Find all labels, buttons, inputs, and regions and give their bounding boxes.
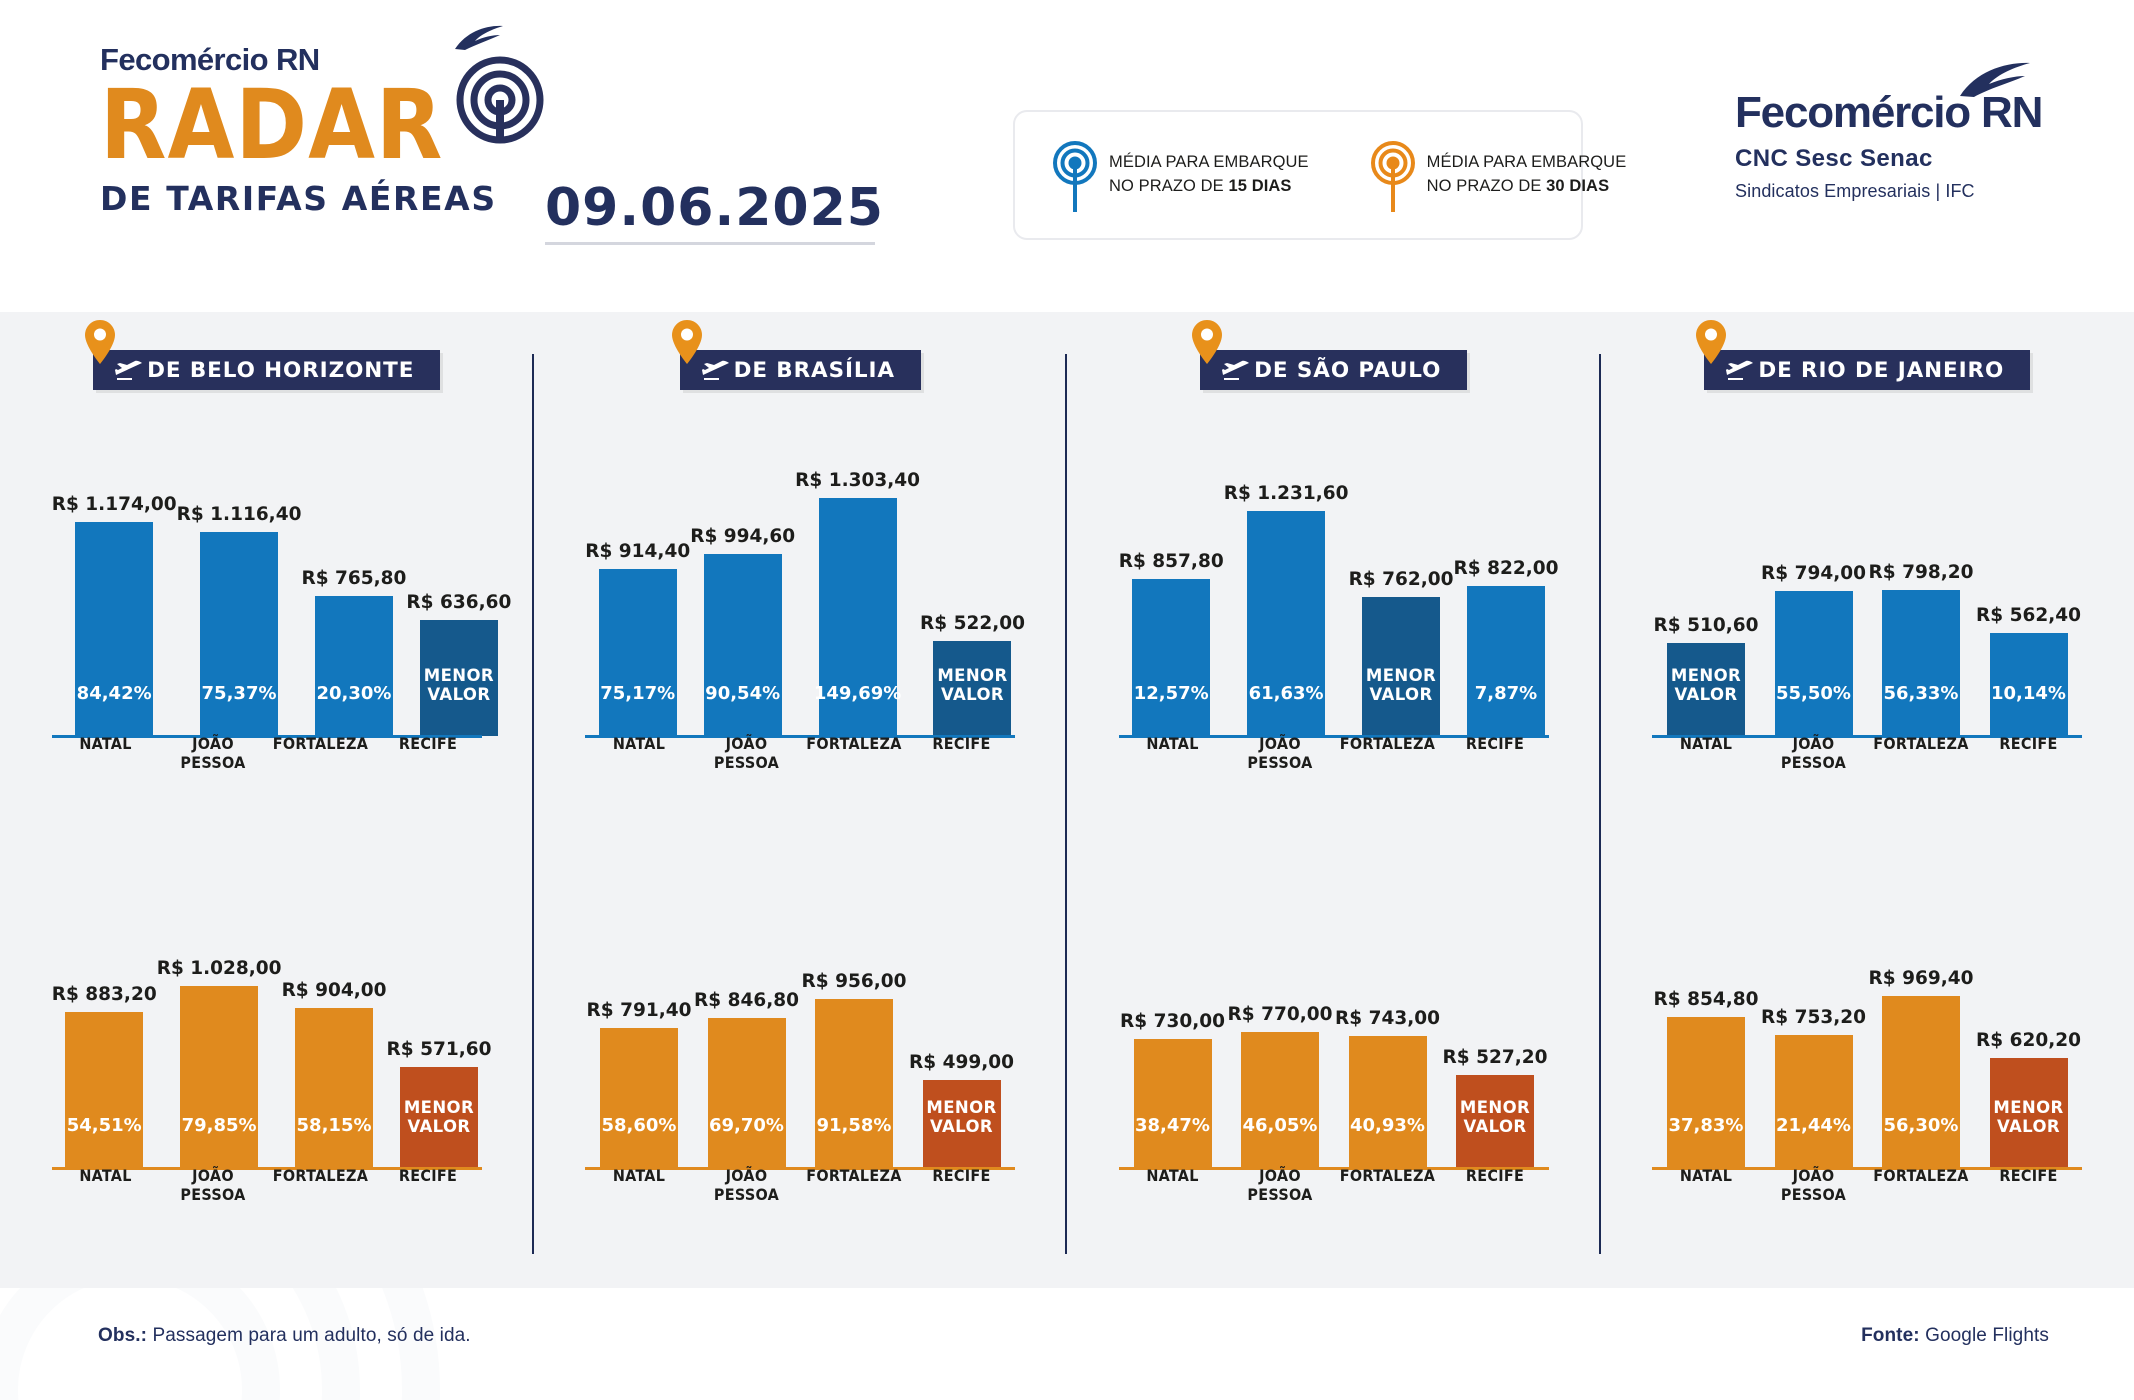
bar-percent-label: 7,87% [1475,684,1537,736]
footer-note: Obs.: Passagem para um adulto, só de ida… [98,1325,471,1347]
bar-value-label: R$ 822,00 [1454,558,1559,579]
bar-chart: R$ 510,60MENOR VALORR$ 794,0055,50%R$ 79… [1652,408,2082,776]
bar-value-label: R$ 791,40 [587,1000,692,1021]
origin-panel: DE BRASÍLIAR$ 914,4075,17%R$ 994,6090,54… [534,312,1068,1288]
legend-item-15-dias: MÉDIA PARA EMBARQUE NO PRAZO DE 15 DIAS [1053,137,1309,213]
x-axis-labels: NATALJOÃO PESSOAFORTALEZARECIFE [1652,734,2082,772]
chart-plot-area: R$ 854,8037,83%R$ 753,2021,44%R$ 969,405… [1652,898,2082,1168]
bar[interactable]: 55,50% [1775,591,1853,736]
page-header: Fecomércio RN RADAR DE TARIFAS AÉREAS 09… [0,0,2134,312]
bar-group: R$ 770,0046,05% [1226,898,1334,1168]
airplane-icon [115,359,143,381]
bar[interactable]: 54,51% [65,1012,143,1168]
radar-title: RADAR [100,80,497,171]
origin-title-bar[interactable]: DE BRASÍLIA [680,350,921,390]
bar[interactable]: MENOR VALOR [1667,643,1745,736]
row-spacer [1601,776,2134,898]
bar[interactable]: 46,05% [1241,1032,1319,1168]
bar-percent-label: 20,30% [316,684,391,736]
bar-value-label: R$ 762,00 [1349,569,1454,590]
bar[interactable]: MENOR VALOR [923,1080,1001,1168]
bar-group: R$ 743,0040,93% [1334,898,1442,1168]
bar[interactable]: 75,37% [200,532,278,736]
bar[interactable]: MENOR VALOR [1456,1075,1534,1168]
panel-header: DE BRASÍLIA [534,312,1068,408]
x-axis-tick-label: FORTALEZA [1867,1166,1975,1204]
x-axis-tick-label: RECIFE [374,734,482,772]
x-axis-tick-label: RECIFE [374,1166,482,1204]
x-axis-tick-label: RECIFE [908,734,1016,772]
origin-panel: DE BELO HORIZONTER$ 1.174,0084,42%R$ 1.1… [0,312,534,1288]
lowest-value-badge: MENOR VALOR [937,667,1007,736]
chart-plot-area: R$ 914,4075,17%R$ 994,6090,54%R$ 1.303,4… [585,408,1015,736]
bar[interactable]: 84,42% [75,522,153,736]
bar-group: R$ 914,4075,17% [585,408,690,736]
bar-group: R$ 794,0055,50% [1760,408,1868,736]
bar-percent-label: 55,50% [1776,684,1851,736]
map-pin-icon [85,320,115,364]
bar-value-label: R$ 994,60 [690,526,795,547]
bar-percent-label: 79,85% [182,1116,257,1168]
bar[interactable]: 12,57% [1132,579,1210,736]
bar-percent-label: 84,42% [77,684,152,736]
bar[interactable]: 38,47% [1134,1039,1212,1168]
map-pin-icon [672,320,702,364]
bar[interactable]: 58,15% [295,1008,373,1168]
x-axis-tick-label: JOÃO PESSOA [693,1166,801,1204]
row-spacer [1067,776,1601,898]
report-date-value: 09.06.2025 [545,178,875,238]
bar[interactable]: MENOR VALOR [1362,597,1440,736]
origin-panel: DE SÃO PAULOR$ 857,8012,57%R$ 1.231,6061… [1067,312,1601,1288]
origin-title-label: DE BELO HORIZONTE [147,358,414,383]
x-axis-tick-label: RECIFE [1975,1166,2083,1204]
fecomercio-rn-text: Fecomércio RN [100,42,320,77]
lowest-value-badge: MENOR VALOR [1366,667,1436,736]
origin-title-label: DE SÃO PAULO [1254,358,1441,383]
sindicatos-text: Sindicatos Empresariais | IFC [1735,181,2042,202]
chart-plot-area: R$ 791,4058,60%R$ 846,8069,70%R$ 956,009… [585,898,1015,1168]
bar-value-label: R$ 846,80 [694,990,799,1011]
x-axis-tick-label: NATAL [1652,1166,1760,1204]
bar-value-label: R$ 510,60 [1654,615,1759,636]
legend-line2: NO PRAZO DE 30 DIAS [1427,175,1627,199]
bar-value-label: R$ 527,20 [1443,1047,1548,1068]
bar[interactable]: 21,44% [1775,1035,1853,1168]
bar-group: R$ 956,0091,58% [800,898,908,1168]
bar[interactable]: 75,17% [599,569,677,736]
bar-value-label: R$ 969,40 [1869,968,1974,989]
bar-percent-label: 37,83% [1669,1116,1744,1168]
bar-percent-label: 21,44% [1776,1116,1851,1168]
x-axis-tick-label: NATAL [585,1166,693,1204]
bar[interactable]: 56,30% [1882,996,1960,1168]
bar-percent-label: 69,70% [709,1116,784,1168]
bar-group: R$ 1.116,4075,37% [177,408,302,736]
fecomercio-rn-name: Fecomércio RN [1735,88,2042,138]
fecomercio-logo-right: Fecomércio RN CNC Sesc Senac Sindicatos … [1735,88,2042,202]
chart-plot-area: R$ 730,0038,47%R$ 770,0046,05%R$ 743,004… [1119,898,1549,1168]
bar-value-label: R$ 904,00 [282,980,387,1001]
x-axis-tick-label: JOÃO PESSOA [1760,734,1868,772]
x-axis-tick-label: NATAL [52,1166,160,1204]
bar[interactable]: MENOR VALOR [1990,1058,2068,1168]
bar-group: R$ 522,00MENOR VALOR [920,408,1025,736]
bar-chart: R$ 857,8012,57%R$ 1.231,6061,63%R$ 762,0… [1119,408,1549,776]
bar-value-label: R$ 562,40 [1976,605,2081,626]
row-spacer [0,776,534,898]
bar-value-label: R$ 1.174,00 [52,494,177,515]
chart-plot-area: R$ 1.174,0084,42%R$ 1.116,4075,37%R$ 765… [52,408,482,736]
date-underline [545,242,875,245]
radar-logo: Fecomércio RN RADAR DE TARIFAS AÉREAS [100,42,497,218]
bar-group: R$ 1.174,0084,42% [52,408,177,736]
map-pin-icon [1696,320,1726,364]
x-axis-tick-label: RECIFE [1441,1166,1549,1204]
x-axis-tick-label: FORTALEZA [800,734,908,772]
bar-value-label: R$ 1.303,40 [795,470,920,491]
origin-title-bar[interactable]: DE BELO HORIZONTE [93,350,440,390]
bar-value-label: R$ 730,00 [1120,1011,1225,1032]
bar[interactable]: 10,14% [1990,633,2068,736]
bar-group: R$ 1.028,0079,85% [157,898,282,1168]
quill-icon [453,25,505,51]
origin-title-label: DE BRASÍLIA [734,358,895,383]
bar-percent-label: 10,14% [1991,684,2066,736]
x-axis-tick-label: JOÃO PESSOA [159,734,267,772]
bar-chart: R$ 854,8037,83%R$ 753,2021,44%R$ 969,405… [1652,898,2082,1208]
bar-group: R$ 904,0058,15% [282,898,387,1168]
x-axis-tick-label: RECIFE [1441,734,1549,772]
x-axis-tick-label: NATAL [1119,734,1227,772]
bar-value-label: R$ 770,00 [1228,1004,1333,1025]
bar-group: R$ 571,60MENOR VALOR [387,898,492,1168]
radar-target-icon [455,55,545,145]
x-axis-labels: NATALJOÃO PESSOAFORTALEZARECIFE [52,1166,482,1204]
bar-group: R$ 730,0038,47% [1119,898,1227,1168]
bar-value-label: R$ 765,80 [301,568,406,589]
x-axis-tick-label: FORTALEZA [267,1166,375,1204]
bar-value-label: R$ 1.028,00 [157,958,282,979]
bar-value-label: R$ 499,00 [909,1052,1014,1073]
x-axis-tick-label: JOÃO PESSOA [1760,1166,1868,1204]
bar[interactable]: 58,60% [600,1028,678,1168]
origin-title-bar[interactable]: DE SÃO PAULO [1200,350,1467,390]
bar-group: R$ 510,60MENOR VALOR [1652,408,1760,736]
bar-chart: R$ 730,0038,47%R$ 770,0046,05%R$ 743,004… [1119,898,1549,1208]
radar-pin-orange-icon [1371,137,1415,213]
bar[interactable]: 90,54% [704,554,782,736]
x-axis-labels: NATALJOÃO PESSOAFORTALEZARECIFE [1652,1166,2082,1204]
origin-title-label: DE RIO DE JANEIRO [1758,358,2004,383]
x-axis-tick-label: FORTALEZA [1334,734,1442,772]
footer-source: Fonte: Google Flights [1861,1325,2049,1347]
bar-chart: R$ 791,4058,60%R$ 846,8069,70%R$ 956,009… [585,898,1015,1208]
x-axis-tick-label: JOÃO PESSOA [1226,734,1334,772]
bar[interactable]: 37,83% [1667,1017,1745,1168]
x-axis-tick-label: FORTALEZA [267,734,375,772]
lowest-value-badge: MENOR VALOR [1993,1099,2063,1168]
bar-percent-label: 46,05% [1243,1116,1318,1168]
x-axis-tick-label: FORTALEZA [800,1166,908,1204]
bar[interactable]: 79,85% [180,986,258,1168]
bar-percent-label: 61,63% [1249,684,1324,736]
chart-plot-area: R$ 857,8012,57%R$ 1.231,6061,63%R$ 762,0… [1119,408,1549,736]
bar-chart: R$ 914,4075,17%R$ 994,6090,54%R$ 1.303,4… [585,408,1015,776]
lowest-value-badge: MENOR VALOR [1460,1099,1530,1168]
airplane-icon [702,359,730,381]
bar[interactable]: 91,58% [815,999,893,1168]
x-axis-tick-label: NATAL [585,734,693,772]
bar-group: R$ 620,20MENOR VALOR [1975,898,2083,1168]
bar-group: R$ 994,6090,54% [690,408,795,736]
bar-group: R$ 636,60MENOR VALOR [406,408,511,736]
bar-group: R$ 822,007,87% [1454,408,1559,736]
bar-group: R$ 753,2021,44% [1760,898,1868,1168]
bar-group: R$ 857,8012,57% [1119,408,1224,736]
x-axis-tick-label: JOÃO PESSOA [693,734,801,772]
lowest-value-badge: MENOR VALOR [424,667,494,736]
bar-percent-label: 90,54% [705,684,780,736]
x-axis-labels: NATALJOÃO PESSOAFORTALEZARECIFE [585,734,1015,772]
bar-group: R$ 969,4056,30% [1867,898,1975,1168]
airplane-icon [1726,359,1754,381]
x-axis-labels: NATALJOÃO PESSOAFORTALEZARECIFE [1119,734,1549,772]
bar-percent-label: 38,47% [1135,1116,1210,1168]
legend-text-30-dias: MÉDIA PARA EMBARQUE NO PRAZO DE 30 DIAS [1427,151,1627,199]
cnc-sesc-senac-text: CNC Sesc Senac [1735,145,2042,173]
bar-group: R$ 499,00MENOR VALOR [908,898,1016,1168]
airplane-icon [1222,359,1250,381]
panel-header: DE RIO DE JANEIRO [1601,312,2134,408]
legend-line1: MÉDIA PARA EMBARQUE [1427,151,1627,175]
bar-percent-label: 58,60% [602,1116,677,1168]
bar-percent-label: 91,58% [817,1116,892,1168]
legend-card: MÉDIA PARA EMBARQUE NO PRAZO DE 15 DIAS … [1013,110,1583,240]
bar-value-label: R$ 753,20 [1761,1007,1866,1028]
bar-percent-label: 58,15% [297,1116,372,1168]
fecomercio-rn-wordmark: Fecomércio RN [100,42,497,78]
footer-note-label: Obs.: [98,1325,147,1346]
bar-group: R$ 1.303,40149,69% [795,408,920,736]
x-axis-labels: NATALJOÃO PESSOAFORTALEZARECIFE [1119,1166,1549,1204]
bar[interactable]: 20,30% [315,596,393,736]
x-axis-tick-label: RECIFE [1975,734,2083,772]
lowest-value-badge: MENOR VALOR [1671,667,1741,736]
x-axis-labels: NATALJOÃO PESSOAFORTALEZARECIFE [52,734,482,772]
lowest-value-badge: MENOR VALOR [404,1099,474,1168]
bar-value-label: R$ 1.231,60 [1224,483,1349,504]
row-spacer [534,776,1068,898]
bar-value-label: R$ 857,80 [1119,551,1224,572]
origin-panel: DE RIO DE JANEIROR$ 510,60MENOR VALORR$ … [1601,312,2134,1288]
x-axis-tick-label: NATAL [1119,1166,1227,1204]
bar-value-label: R$ 798,20 [1869,562,1974,583]
radar-subtitle: DE TARIFAS AÉREAS [100,179,497,218]
bar[interactable]: 40,93% [1349,1036,1427,1168]
bar-group: R$ 1.231,6061,63% [1224,408,1349,736]
bar-group: R$ 762,00MENOR VALOR [1349,408,1454,736]
bar-value-label: R$ 794,00 [1761,563,1866,584]
legend-item-30-dias: MÉDIA PARA EMBARQUE NO PRAZO DE 30 DIAS [1371,137,1627,213]
x-axis-tick-label: NATAL [52,734,160,772]
chart-plot-area: R$ 510,60MENOR VALORR$ 794,0055,50%R$ 79… [1652,408,2082,736]
chart-plot-area: R$ 883,2054,51%R$ 1.028,0079,85%R$ 904,0… [52,898,482,1168]
bar-percent-label: 149,69% [814,684,902,736]
bar[interactable]: 7,87% [1467,586,1545,736]
bar-value-label: R$ 956,00 [802,971,907,992]
origin-title-bar[interactable]: DE RIO DE JANEIRO [1704,350,2030,390]
bar-value-label: R$ 854,80 [1654,989,1759,1010]
bar[interactable]: 56,33% [1882,590,1960,736]
radar-pin-blue-icon [1053,137,1097,213]
panel-header: DE BELO HORIZONTE [0,312,534,408]
bar-chart: R$ 1.174,0084,42%R$ 1.116,4075,37%R$ 765… [52,408,482,776]
charts-area: DE BELO HORIZONTER$ 1.174,0084,42%R$ 1.1… [0,312,2134,1288]
bar-group: R$ 527,20MENOR VALOR [1441,898,1549,1168]
x-axis-tick-label: NATAL [1652,734,1760,772]
bar-value-label: R$ 620,20 [1976,1030,2081,1051]
bar-group: R$ 791,4058,60% [585,898,693,1168]
bar-value-label: R$ 883,20 [52,984,157,1005]
footer-source-label: Fonte: [1861,1325,1920,1346]
bar-group: R$ 846,8069,70% [693,898,801,1168]
bar-percent-label: 56,30% [1884,1116,1959,1168]
legend-line1: MÉDIA PARA EMBARQUE [1109,151,1309,175]
quill-icon [1958,62,2032,98]
report-date: 09.06.2025 [545,178,875,245]
bar[interactable]: MENOR VALOR [420,620,498,736]
bar-group: R$ 562,4010,14% [1975,408,2083,736]
bar-value-label: R$ 636,60 [406,592,511,613]
bar-percent-label: 54,51% [67,1116,142,1168]
bar[interactable]: MENOR VALOR [933,641,1011,736]
map-pin-icon [1192,320,1222,364]
legend-line2: NO PRAZO DE 15 DIAS [1109,175,1309,199]
x-axis-tick-label: RECIFE [908,1166,1016,1204]
bar[interactable]: 69,70% [708,1018,786,1168]
infographic-page: Fecomércio RN RADAR DE TARIFAS AÉREAS 09… [0,0,2134,1400]
bar[interactable]: 149,69% [819,498,897,736]
bar-percent-label: 40,93% [1350,1116,1425,1168]
page-footer: Obs.: Passagem para um adulto, só de ida… [0,1288,2134,1400]
bar-group: R$ 854,8037,83% [1652,898,1760,1168]
bar-value-label: R$ 1.116,40 [177,504,302,525]
bar-percent-label: 75,37% [202,684,277,736]
bar-group: R$ 798,2056,33% [1867,408,1975,736]
bar-percent-label: 56,33% [1884,684,1959,736]
bar-percent-label: 12,57% [1134,684,1209,736]
bar[interactable]: MENOR VALOR [400,1067,478,1168]
x-axis-labels: NATALJOÃO PESSOAFORTALEZARECIFE [585,1166,1015,1204]
panel-header: DE SÃO PAULO [1067,312,1601,408]
x-axis-tick-label: JOÃO PESSOA [1226,1166,1334,1204]
legend-text-15-dias: MÉDIA PARA EMBARQUE NO PRAZO DE 15 DIAS [1109,151,1309,199]
x-axis-tick-label: JOÃO PESSOA [159,1166,267,1204]
bar-percent-label: 75,17% [600,684,675,736]
lowest-value-badge: MENOR VALOR [926,1099,996,1168]
bar[interactable]: 61,63% [1247,511,1325,736]
x-axis-tick-label: FORTALEZA [1867,734,1975,772]
bar-chart: R$ 883,2054,51%R$ 1.028,0079,85%R$ 904,0… [52,898,482,1208]
x-axis-tick-label: FORTALEZA [1334,1166,1442,1204]
bar-value-label: R$ 743,00 [1335,1008,1440,1029]
bar-value-label: R$ 571,60 [387,1039,492,1060]
bar-value-label: R$ 522,00 [920,613,1025,634]
origin-panels: DE BELO HORIZONTER$ 1.174,0084,42%R$ 1.1… [0,312,2134,1288]
bar-value-label: R$ 914,40 [585,541,690,562]
footer-source-text: Google Flights [1920,1325,2049,1346]
bar-group: R$ 765,8020,30% [301,408,406,736]
bar-group: R$ 883,2054,51% [52,898,157,1168]
footer-note-text: Passagem para um adulto, só de ida. [147,1325,471,1346]
